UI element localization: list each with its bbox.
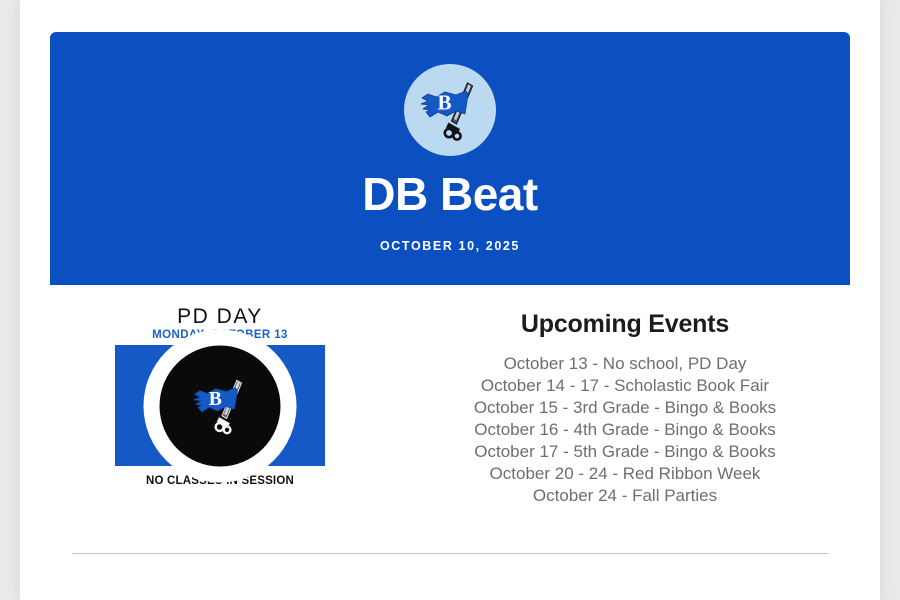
svg-text:B: B xyxy=(437,91,451,115)
page-canvas: B DB Beat OCTOBER 10, 2025 PD DAY MONDAY… xyxy=(0,0,900,600)
newsletter-title: DB Beat xyxy=(50,170,850,218)
pd-day-flyer: PD DAY MONDAY, OCTOBER 13 xyxy=(115,306,325,487)
list-item: October 20 - 24 - Red Ribbon Week xyxy=(400,463,850,485)
upcoming-events-list: October 13 - No school, PD Day October 1… xyxy=(400,353,850,507)
list-item: October 24 - Fall Parties xyxy=(400,485,850,507)
school-flag-crest-icon: B xyxy=(177,363,263,449)
list-item: October 14 - 17 - Scholastic Book Fair xyxy=(400,375,850,397)
list-item: October 16 - 4th Grade - Bingo & Books xyxy=(400,419,850,441)
list-item: October 15 - 3rd Grade - Bingo & Books xyxy=(400,397,850,419)
section-divider xyxy=(72,553,828,554)
pd-day-artwork: B xyxy=(115,345,325,466)
pd-day-flyer-column: PD DAY MONDAY, OCTOBER 13 xyxy=(50,300,390,487)
pd-day-disc: B xyxy=(160,345,281,466)
newsletter-masthead: B DB Beat OCTOBER 10, 2025 xyxy=(50,32,850,285)
content-row: PD DAY MONDAY, OCTOBER 13 xyxy=(50,300,850,507)
list-item: October 17 - 5th Grade - Bingo & Books xyxy=(400,441,850,463)
newsletter-date: OCTOBER 10, 2025 xyxy=(50,239,850,253)
upcoming-events-heading: Upcoming Events xyxy=(400,310,850,339)
school-flag-crest-icon: B xyxy=(404,64,496,156)
upcoming-events-column: Upcoming Events October 13 - No school, … xyxy=(400,300,850,507)
svg-text:B: B xyxy=(208,389,221,410)
pd-day-title: PD DAY xyxy=(115,306,325,328)
newsletter-card: B DB Beat OCTOBER 10, 2025 PD DAY MONDAY… xyxy=(20,0,880,600)
list-item: October 13 - No school, PD Day xyxy=(400,353,850,375)
